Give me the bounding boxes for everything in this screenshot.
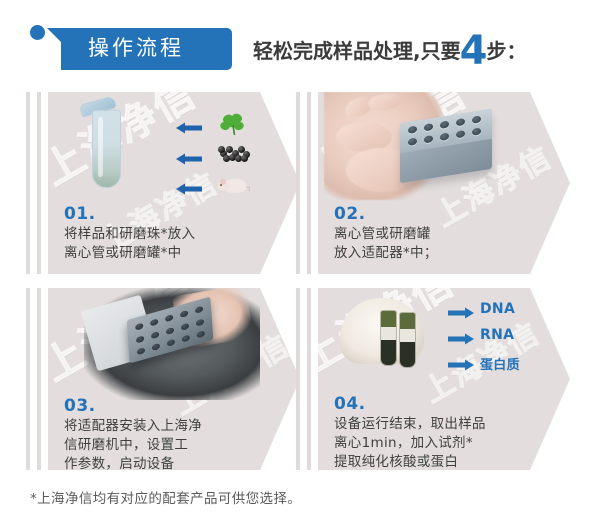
header-subtitle: 轻松完成样品处理,只要4步： [253,34,526,68]
output-label-protein: 蛋白质 [480,354,520,373]
step-description: 将适配器安装入上海净 信研磨机中，设置工 作参数，启动设备 [64,417,300,470]
decor-bar-outer [296,288,300,470]
grinding-beads-icon [218,144,250,162]
step-caption-2: 02. 离心管或研磨罐 放入适配器*中； [334,204,570,263]
header: 操作流程 轻松完成样品处理,只要4步： [0,0,600,90]
step-panel-1: 上海净信 上海净信 [48,92,300,274]
sample-vial-icon [399,312,416,368]
header-subtitle-suffix: 步： [486,39,526,63]
centrifuge-tube-icon [88,100,126,192]
output-label-dna: DNA [480,301,515,317]
step-number: 01. [64,204,300,224]
step-caption-4: 04. 设备运行结束，取出样品 离心1min，加入试剂* 提取纯化核酸或蛋白 [334,394,570,470]
step-caption-1: 01. 将样品和研磨珠*放入 离心管或研磨罐*中 [64,204,300,263]
animal-sample-icon [216,175,248,193]
header-dot-icon [30,25,45,40]
steps-grid: 上海净信 上海净信 [0,88,600,478]
arrow-left-icon [176,180,202,192]
decor-bar-inner [37,288,41,470]
step-number: 04. [334,394,570,414]
step-description: 将样品和研磨珠*放入 离心管或研磨罐*中 [64,225,300,263]
step-figure-1 [48,92,300,204]
decor-bar-outer [26,288,30,470]
sample-vial-icon [380,310,397,366]
step-number: 03. [64,396,300,416]
step-panel-4: 上海净信 上海净信 DNA [318,288,570,470]
step-card-3: 上海净信 上海净信 [26,284,300,474]
header-subtitle-prefix: 轻松完成样品处理,只要 [253,39,461,63]
header-step-count: 4 [460,28,488,74]
decor-bar-outer [26,92,30,274]
arrow-right-icon [448,356,474,368]
decor-bar-inner [307,92,311,274]
arrow-right-icon [448,304,474,316]
footer-note: *上海净信均有对应的配套产品可供您选择。 [30,487,301,507]
step-panel-2: 上海净信 上海净信 [318,92,570,274]
step-figure-4: DNA RNA 蛋白质 [318,288,570,400]
header-banner-label: 操作流程 [88,33,184,63]
step-card-2: 上海净信 上海净信 [296,88,570,278]
arrow-left-icon [176,119,202,131]
step-caption-3: 03. 将适配器安装入上海净 信研磨机中，设置工 作参数，启动设备 [64,396,300,470]
step-panel-3: 上海净信 上海净信 [48,288,300,470]
step-card-1: 上海净信 上海净信 [26,88,300,278]
step-description: 离心管或研磨罐 放入适配器*中； [334,225,570,263]
grinder-machine-icon [84,288,260,400]
plant-sample-icon [220,112,246,136]
step-card-4: 上海净信 上海净信 DNA [296,284,570,474]
decor-bar-outer [296,92,300,274]
infographic-page: 操作流程 轻松完成样品处理,只要4步： 上海净信 上海净信 [0,0,600,525]
decor-bar-inner [307,288,311,470]
decor-bar-inner [37,92,41,274]
step-description: 设备运行结束，取出样品 离心1min，加入试剂* 提取纯化核酸或蛋白 [334,415,570,470]
step-figure-2 [318,92,570,204]
output-label-rna: RNA [480,327,514,343]
arrow-left-icon [176,150,202,162]
step-figure-3 [48,288,300,400]
arrow-right-icon [448,330,474,342]
step-number: 02. [334,204,570,224]
